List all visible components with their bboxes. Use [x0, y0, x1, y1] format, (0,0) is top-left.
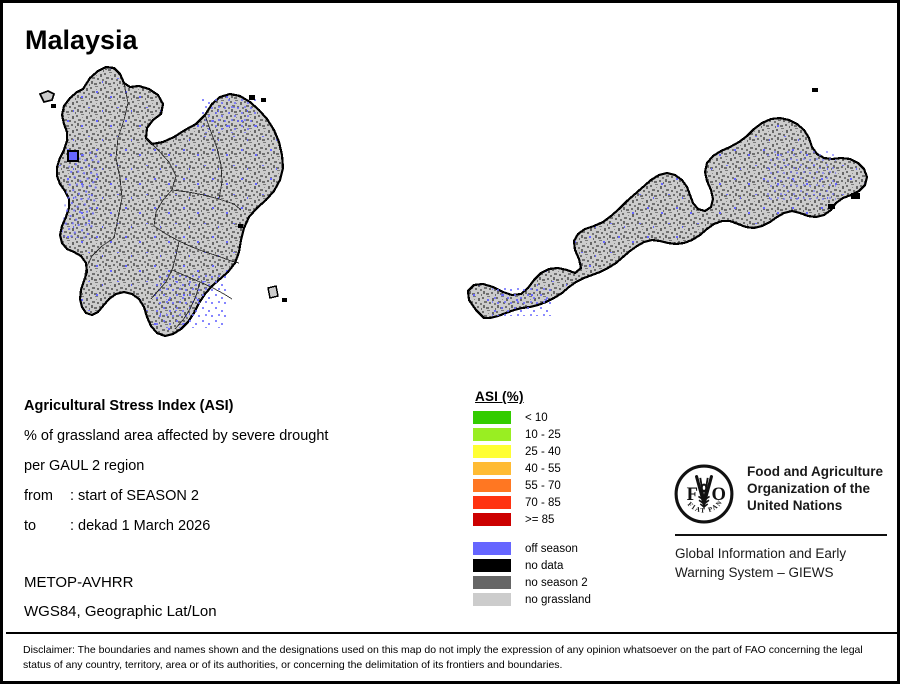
- legend-label: 25 - 40: [525, 446, 561, 458]
- map-poster: Malaysia: [0, 0, 900, 684]
- giews-programme-name: Global Information and EarlyWarning Syst…: [675, 544, 889, 582]
- description-block: Agricultural Stress Index (ASI) % of gra…: [24, 391, 454, 541]
- description-line-1: % of grassland area affected by severe d…: [24, 421, 454, 451]
- legend-label: no data: [525, 560, 563, 572]
- brand-line: Warning System – GIEWS: [675, 563, 889, 582]
- period-to-value: : dekad 1 March 2026: [70, 518, 210, 534]
- fao-organization-name: Food and AgricultureOrganization of theU…: [747, 463, 883, 514]
- map-canvas[interactable]: [6, 58, 900, 368]
- legend-item-special-3[interactable]: no grassland: [473, 591, 643, 608]
- legend-swatch-icon: [473, 593, 511, 606]
- legend-item-class-6[interactable]: >= 85: [473, 511, 643, 528]
- period-from-value: : start of SEASON 2: [70, 488, 199, 504]
- legend-label: 55 - 70: [525, 480, 561, 492]
- legend-class-list: < 1010 - 2525 - 4040 - 5555 - 7070 - 85>…: [473, 409, 643, 528]
- legend-swatch-icon: [473, 445, 511, 458]
- disclaimer-text: Disclaimer: The boundaries and names sho…: [23, 643, 888, 672]
- description-line-2: per GAUL 2 region: [24, 451, 454, 481]
- legend-label: no season 2: [525, 577, 588, 589]
- region-peninsular-malaysia: [57, 67, 283, 336]
- legend-label: no grassland: [525, 594, 591, 606]
- legend-special-list: off seasonno datano season 2no grassland: [473, 540, 643, 608]
- legend-label: < 10: [525, 412, 548, 424]
- fao-emblem-icon: F O FIAT PANIS: [673, 463, 735, 525]
- legend-swatch-icon: [473, 559, 511, 572]
- legend-label: 70 - 85: [525, 497, 561, 509]
- period-to-row: to: dekad 1 March 2026: [24, 511, 454, 541]
- brand-line: Food and Agriculture: [747, 463, 883, 480]
- legend: ASI (%) < 1010 - 2525 - 4040 - 5555 - 70…: [473, 389, 643, 608]
- legend-item-class-1[interactable]: 10 - 25: [473, 426, 643, 443]
- legend-swatch-icon: [473, 513, 511, 526]
- fao-logo-row: F O FIAT PANIS Food and Agriculture: [673, 463, 889, 525]
- legend-item-special-1[interactable]: no data: [473, 557, 643, 574]
- legend-item-class-0[interactable]: < 10: [473, 409, 643, 426]
- fao-branding: F O FIAT PANIS Food and Agriculture: [673, 463, 889, 582]
- legend-swatch-icon: [473, 411, 511, 424]
- legend-item-special-2[interactable]: no season 2: [473, 574, 643, 591]
- legend-item-class-4[interactable]: 55 - 70: [473, 477, 643, 494]
- source-block: METOP-AVHRR WGS84, Geographic Lat/Lon: [24, 568, 454, 626]
- legend-item-class-5[interactable]: 70 - 85: [473, 494, 643, 511]
- period-from-row: from: start of SEASON 2: [24, 481, 454, 511]
- period-from-key: from: [24, 481, 70, 511]
- legend-item-special-0[interactable]: off season: [473, 540, 643, 557]
- legend-item-class-3[interactable]: 40 - 55: [473, 460, 643, 477]
- projection-label: WGS84, Geographic Lat/Lon: [24, 597, 454, 626]
- legend-spacer: [473, 528, 643, 540]
- disclaimer-divider: [6, 632, 900, 634]
- legend-swatch-icon: [473, 462, 511, 475]
- legend-swatch-icon: [473, 496, 511, 509]
- legend-title: ASI (%): [475, 389, 643, 404]
- brand-line: United Nations: [747, 497, 883, 514]
- svg-text:F: F: [687, 484, 698, 505]
- legend-label: >= 85: [525, 514, 554, 526]
- period-to-key: to: [24, 511, 70, 541]
- legend-swatch-icon: [473, 542, 511, 555]
- legend-swatch-icon: [473, 428, 511, 441]
- description-heading: Agricultural Stress Index (ASI): [24, 391, 454, 421]
- legend-label: off season: [525, 543, 578, 555]
- legend-item-class-2[interactable]: 25 - 40: [473, 443, 643, 460]
- legend-swatch-icon: [473, 479, 511, 492]
- page-title: Malaysia: [25, 25, 138, 56]
- brand-line: Global Information and Early: [675, 544, 889, 563]
- fao-divider: [675, 534, 887, 536]
- region-east-malaysia: [468, 88, 867, 318]
- legend-swatch-icon: [473, 576, 511, 589]
- sensor-label: METOP-AVHRR: [24, 568, 454, 597]
- legend-label: 40 - 55: [525, 463, 561, 475]
- brand-line: Organization of the: [747, 480, 883, 497]
- legend-label: 10 - 25: [525, 429, 561, 441]
